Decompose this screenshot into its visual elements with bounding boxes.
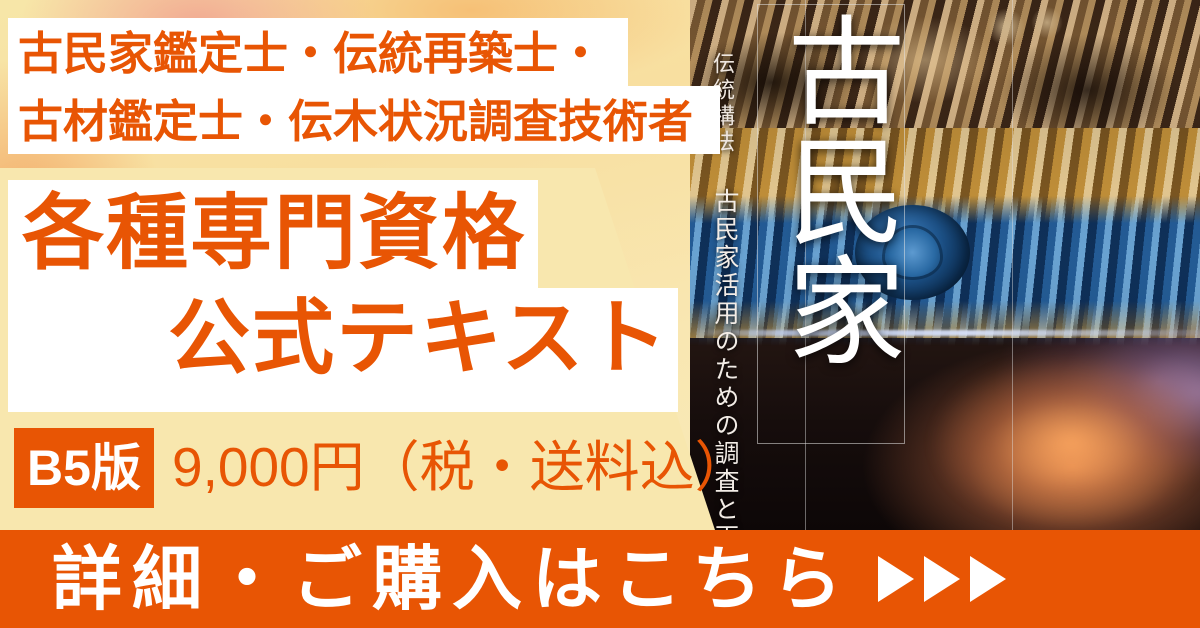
qualification-line-1: 古民家鑑定士・伝統再築士・: [18, 31, 603, 76]
play-triangle-icon: [970, 556, 1006, 602]
main-heading-line-2: 公式テキスト: [168, 298, 670, 380]
cover-title: 古民家: [762, 10, 902, 430]
play-triangle-icon: [924, 556, 960, 602]
cta-bar[interactable]: 詳細・ご購入はこちら: [0, 530, 1200, 628]
cta-arrow-group: [878, 556, 1006, 602]
format-badge: B5版: [14, 428, 154, 508]
cta-label: 詳細・ご購入はこちら: [52, 544, 852, 614]
cover-rule-line: [1012, 0, 1013, 530]
play-triangle-icon: [878, 556, 914, 602]
promo-banner: 伝統構法 古民家活用のための調査と再生の 古民家 古民家鑑定士・伝統再築士・ 古…: [0, 0, 1200, 628]
main-heading-line-1: 各種専門資格: [22, 193, 526, 275]
price-text: 9,000円（税・送料込）: [172, 431, 750, 503]
qualification-line-2: 古材鑑定士・伝木状況調査技術者: [18, 99, 693, 144]
